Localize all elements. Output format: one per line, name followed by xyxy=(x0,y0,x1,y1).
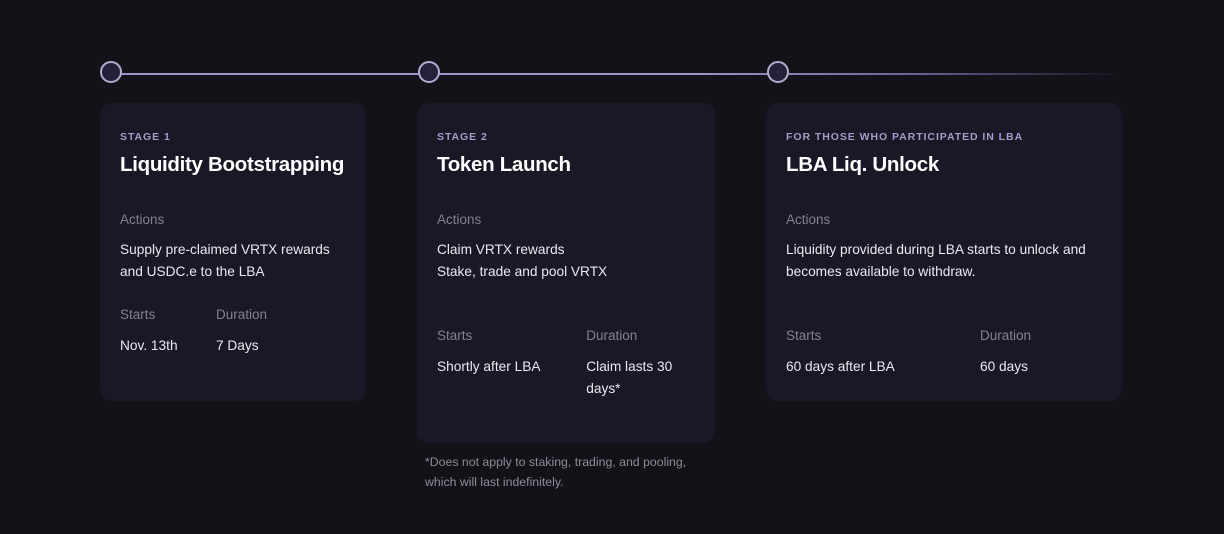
duration-column: Duration 60 days xyxy=(980,327,1031,378)
starts-label: Starts xyxy=(437,327,586,345)
starts-column: Starts Nov. 13th xyxy=(120,306,216,357)
starts-value: Shortly after LBA xyxy=(437,356,586,378)
card-eyebrow: STAGE 2 xyxy=(437,131,695,144)
duration-value: 7 Days xyxy=(216,335,267,357)
actions-block: Actions Supply pre-claimed VRTX rewards … xyxy=(120,211,346,283)
footnote: *Does not apply to staking, trading, and… xyxy=(425,453,690,493)
duration-value: Claim lasts 30 days* xyxy=(586,356,695,400)
duration-column: Duration Claim lasts 30 days* xyxy=(586,327,695,400)
duration-column: Duration 7 Days xyxy=(216,306,267,357)
starts-column: Starts 60 days after LBA xyxy=(786,327,980,378)
starts-value: Nov. 13th xyxy=(120,335,216,357)
actions-line-1: Claim VRTX rewards xyxy=(437,239,695,261)
duration-label: Duration xyxy=(980,327,1031,345)
timeline-track xyxy=(113,73,1123,75)
starts-label: Starts xyxy=(120,306,216,324)
actions-block: Actions Liquidity provided during LBA st… xyxy=(786,211,1102,283)
actions-line-2: Stake, trade and pool VRTX xyxy=(437,261,695,283)
starts-column: Starts Shortly after LBA xyxy=(437,327,586,400)
stage-2-node[interactable] xyxy=(418,61,440,83)
starts-label: Starts xyxy=(786,327,980,345)
stage-3-node[interactable] xyxy=(767,61,789,83)
duration-value: 60 days xyxy=(980,356,1031,378)
stage-card-token-launch: STAGE 2 Token Launch Actions Claim VRTX … xyxy=(417,103,715,443)
stage-timeline xyxy=(0,0,1224,110)
card-eyebrow: FOR THOSE WHO PARTICIPATED IN LBA xyxy=(786,131,1102,144)
stage-1-node[interactable] xyxy=(100,61,122,83)
card-meta-row: Starts Nov. 13th Duration 7 Days xyxy=(120,306,346,357)
stage-card-liquidity-bootstrapping: STAGE 1 Liquidity Bootstrapping Actions … xyxy=(100,103,366,401)
stage-card-lba-liq-unlock: FOR THOSE WHO PARTICIPATED IN LBA LBA Li… xyxy=(766,103,1122,401)
actions-text: Claim VRTX rewards Stake, trade and pool… xyxy=(437,239,695,283)
actions-text: Supply pre-claimed VRTX rewards and USDC… xyxy=(120,239,346,283)
duration-label: Duration xyxy=(586,327,695,345)
card-title: Token Launch xyxy=(437,152,695,178)
actions-label: Actions xyxy=(786,211,1102,229)
actions-label: Actions xyxy=(120,211,346,229)
card-title: LBA Liq. Unlock xyxy=(786,152,1102,178)
card-meta-row: Starts Shortly after LBA Duration Claim … xyxy=(437,327,695,400)
actions-block: Actions Claim VRTX rewards Stake, trade … xyxy=(437,211,695,283)
starts-value: 60 days after LBA xyxy=(786,356,980,378)
actions-label: Actions xyxy=(437,211,695,229)
card-meta-row: Starts 60 days after LBA Duration 60 day… xyxy=(786,327,1102,378)
duration-label: Duration xyxy=(216,306,267,324)
card-title: Liquidity Bootstrapping xyxy=(120,152,346,178)
card-eyebrow: STAGE 1 xyxy=(120,131,346,144)
actions-text: Liquidity provided during LBA starts to … xyxy=(786,239,1102,283)
